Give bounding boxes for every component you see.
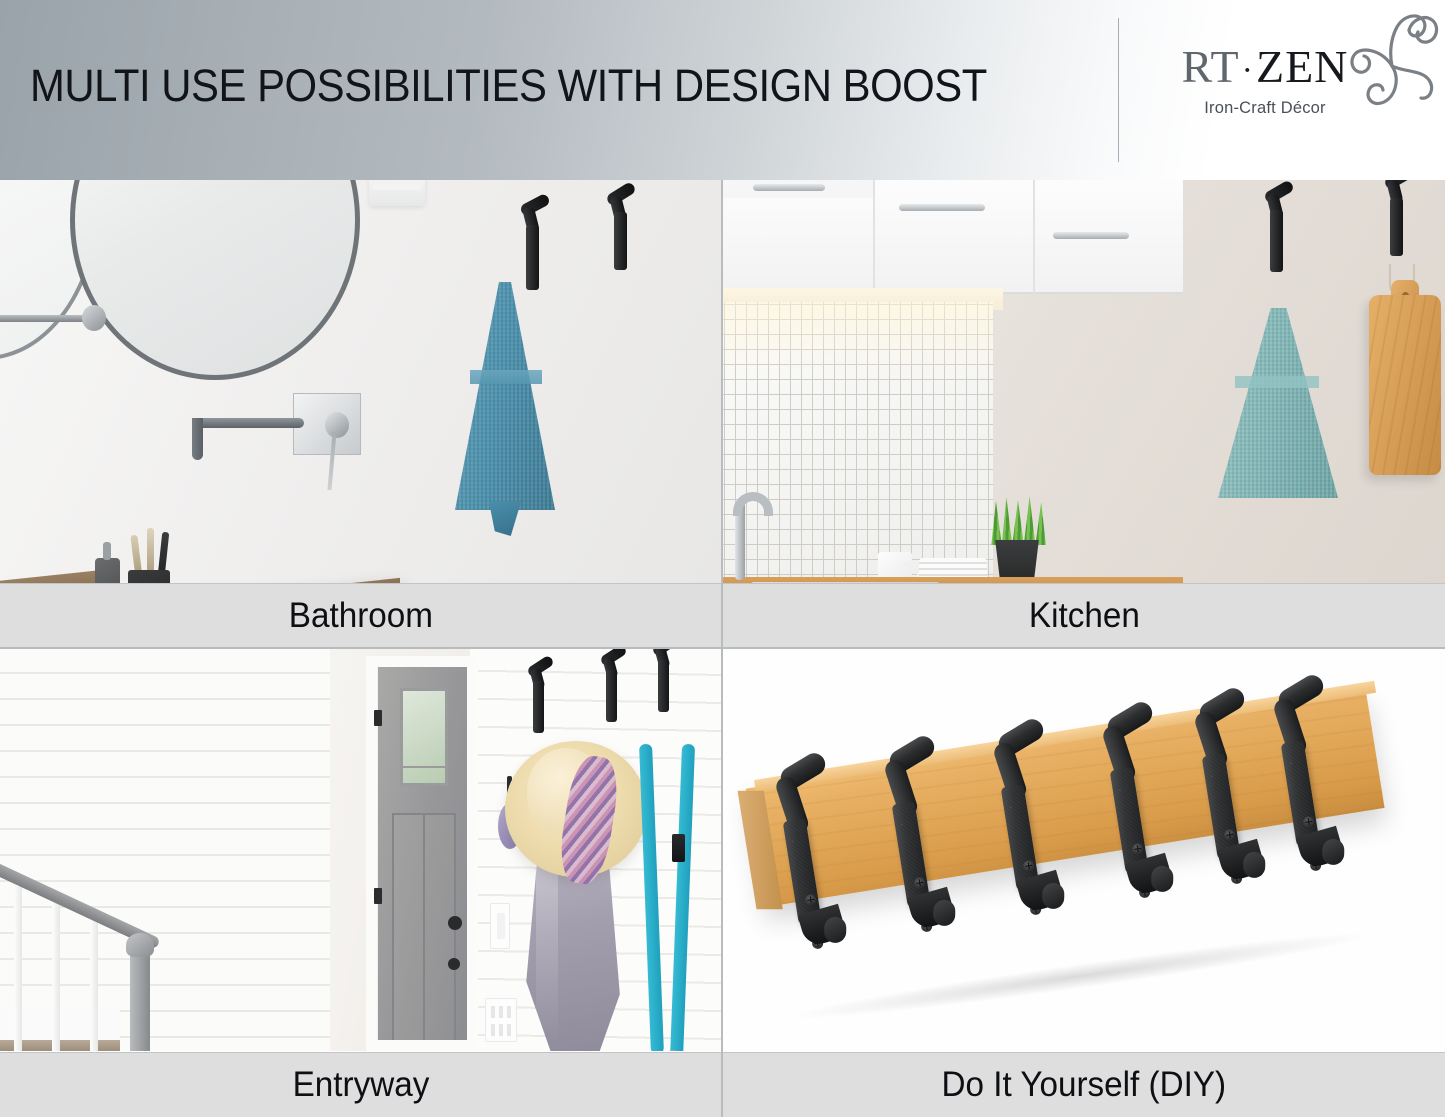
phillips-screw-icon	[804, 894, 817, 907]
black-hook-icon	[1378, 180, 1420, 266]
scarf-fold	[536, 848, 558, 1044]
wall-outlet-icon	[485, 998, 517, 1042]
diy-product-photo	[723, 648, 1445, 1051]
cabinet-handle-icon	[899, 204, 985, 211]
soap-dispenser-icon	[95, 558, 120, 583]
product-stage	[723, 648, 1445, 1051]
deadbolt-icon	[448, 958, 460, 970]
panel-entryway: Entryway	[0, 648, 721, 1117]
light-switch-icon	[490, 903, 510, 949]
kitchen-faucet-icon	[735, 502, 745, 580]
caption-entryway: Entryway	[292, 1065, 429, 1105]
panel-kitchen: Kitchen	[723, 180, 1445, 648]
grid-horizontal-separator	[0, 647, 1445, 649]
cabinet-seam	[873, 180, 875, 294]
brand-wordmark-separator: ·	[1240, 52, 1256, 89]
phillips-screw-icon	[1022, 860, 1035, 873]
caption-band-kitchen: Kitchen	[723, 583, 1445, 648]
coat-rack-product	[731, 668, 1437, 1028]
panel-bathroom: Bathroom	[0, 180, 721, 648]
faucet-knob	[325, 412, 349, 438]
toothbrush-cup-icon	[128, 570, 170, 583]
cutting-board-grain	[1369, 295, 1441, 475]
baluster	[90, 916, 98, 1051]
phillips-screw-icon	[1223, 829, 1236, 842]
baluster	[14, 886, 22, 1051]
page-title: MULTI USE POSSIBILITIES WITH DESIGN BOOS…	[30, 60, 987, 112]
wall-faucet-icon	[196, 418, 304, 428]
door-hinge-icon	[374, 710, 382, 726]
leash-label-tag	[672, 834, 685, 862]
towel-stripe	[470, 370, 542, 384]
ceiling-light	[369, 180, 425, 206]
black-hook-icon	[512, 197, 554, 292]
kitchen-photo	[723, 180, 1445, 583]
header-banner: MULTI USE POSSIBILITIES WITH DESIGN BOOS…	[0, 0, 1445, 180]
black-hook-icon	[602, 190, 644, 280]
black-hook-icon	[1258, 188, 1300, 278]
phillips-screw-icon	[1302, 816, 1315, 829]
newel-post-icon	[130, 948, 150, 1051]
newel-cap	[126, 933, 154, 957]
caption-kitchen: Kitchen	[1029, 596, 1140, 636]
caption-band-entryway: Entryway	[0, 1052, 721, 1117]
scene-grid: Bathroom	[0, 180, 1445, 1117]
flourish-scroll-icon	[1338, 2, 1444, 114]
caption-diy: Do It Yourself (DIY)	[942, 1065, 1227, 1105]
phillips-screw-icon	[913, 877, 926, 890]
caption-band-diy: Do It Yourself (DIY)	[723, 1052, 1445, 1117]
baluster	[52, 900, 60, 1051]
phillips-screw-icon	[1131, 843, 1144, 856]
product-infographic: MULTI USE POSSIBILITIES WITH DESIGN BOOS…	[0, 0, 1445, 1117]
cabinet-handle-icon	[1053, 232, 1129, 239]
product-shadow	[792, 924, 1370, 1028]
cabinet-seam	[1033, 180, 1035, 294]
backsplash-light-wash	[723, 302, 993, 382]
caption-bathroom: Bathroom	[288, 596, 432, 636]
door-frame	[366, 656, 478, 1051]
shiplap-wall-icon	[0, 648, 330, 1051]
black-hook-icon	[523, 663, 559, 741]
brand-wordmark-suffix: ZEN	[1256, 41, 1348, 92]
door-hinge-icon	[374, 888, 382, 904]
black-hook-icon	[648, 648, 684, 720]
bathroom-photo	[0, 180, 721, 583]
cabinet-handle-icon	[753, 184, 825, 191]
entryway-photo	[0, 648, 721, 1051]
towel-stripe	[1235, 376, 1319, 388]
black-hook-icon	[596, 652, 632, 730]
toothbrush-icon	[147, 528, 154, 572]
door-knob-icon	[448, 916, 462, 930]
header-divider	[1118, 18, 1119, 162]
towel-rod-cap	[82, 305, 106, 331]
caption-band-bathroom: Bathroom	[0, 583, 721, 648]
panel-diy: Do It Yourself (DIY)	[723, 648, 1445, 1117]
brand-wordmark-prefix: RT	[1182, 41, 1240, 92]
